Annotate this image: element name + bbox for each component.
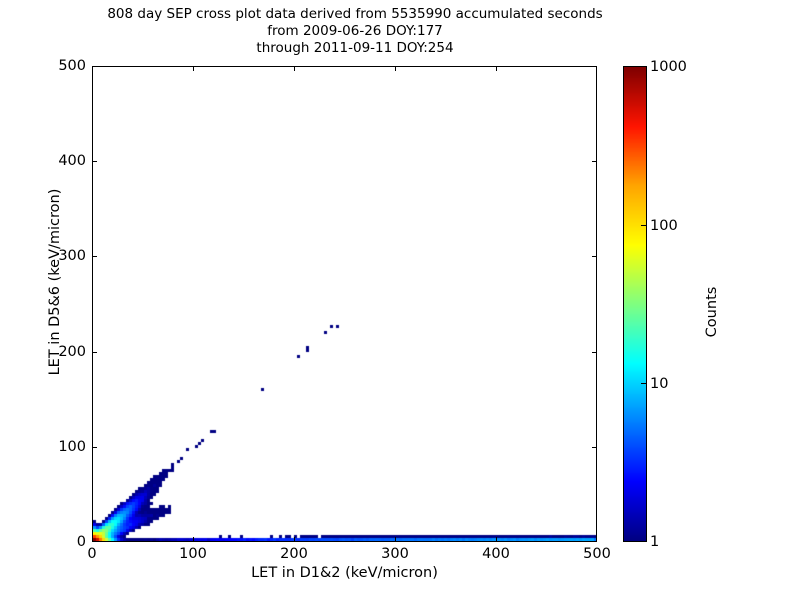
y-tick-right-300 xyxy=(592,256,597,257)
x-tick-label-400: 400 xyxy=(456,546,536,562)
colorbar-tick-10 xyxy=(641,383,646,384)
density-scatter-plot xyxy=(93,67,596,541)
y-tick-label-group: 500 400 300 200 100 0 xyxy=(0,0,86,600)
colorbar-label-1000: 1000 xyxy=(650,59,687,75)
x-tick-label-0: 0 xyxy=(52,546,132,562)
figure-canvas: 808 day SEP cross plot data derived from… xyxy=(0,0,800,600)
colorbar-tick-1 xyxy=(641,541,646,542)
x-tick-300 xyxy=(395,537,396,542)
colorbar-label-100: 100 xyxy=(650,218,678,234)
title-line-2: from 2009-06-26 DOY:177 xyxy=(0,23,710,40)
x-tick-top-100 xyxy=(193,66,194,71)
x-tick-500 xyxy=(596,537,597,542)
colorbar-label-10: 10 xyxy=(650,376,668,392)
y-axis-title: LET in D5&6 (keV/micron) xyxy=(47,117,63,447)
colorbar-tick-1000 xyxy=(641,66,646,67)
x-tick-200 xyxy=(294,537,295,542)
x-tick-0 xyxy=(92,537,93,542)
y-tick-right-400 xyxy=(592,161,597,162)
y-tick-label-400: 400 xyxy=(6,154,86,168)
x-tick-label-300: 300 xyxy=(355,546,435,562)
x-tick-400 xyxy=(496,537,497,542)
y-tick-300 xyxy=(92,256,97,257)
x-axis-title: LET in D1&2 (keV/micron) xyxy=(92,565,597,581)
colorbar-gradient xyxy=(624,67,646,541)
y-tick-label-200: 200 xyxy=(6,345,86,359)
colorbar-tick-100 xyxy=(641,225,646,226)
colorbar-label-1: 1 xyxy=(650,534,659,550)
y-tick-500 xyxy=(92,66,97,67)
colorbar-title: Counts xyxy=(704,232,720,392)
y-tick-label-500: 500 xyxy=(6,59,86,73)
y-tick-400 xyxy=(92,161,97,162)
x-tick-top-400 xyxy=(496,66,497,71)
y-tick-right-500 xyxy=(592,66,597,67)
y-tick-right-100 xyxy=(592,447,597,448)
plot-axes-area xyxy=(92,66,597,542)
y-tick-right-200 xyxy=(592,352,597,353)
title-line-1: 808 day SEP cross plot data derived from… xyxy=(0,6,710,23)
y-tick-200 xyxy=(92,352,97,353)
x-tick-top-300 xyxy=(395,66,396,71)
x-tick-top-200 xyxy=(294,66,295,71)
y-tick-label-100: 100 xyxy=(6,440,86,454)
x-tick-label-500: 500 xyxy=(557,546,637,562)
plot-title: 808 day SEP cross plot data derived from… xyxy=(0,6,710,57)
x-tick-100 xyxy=(193,537,194,542)
title-line-3: through 2011-09-11 DOY:254 xyxy=(0,40,710,57)
y-tick-label-300: 300 xyxy=(6,249,86,263)
x-tick-label-100: 100 xyxy=(153,546,233,562)
y-tick-100 xyxy=(92,447,97,448)
colorbar xyxy=(623,66,647,542)
x-tick-label-200: 200 xyxy=(254,546,334,562)
